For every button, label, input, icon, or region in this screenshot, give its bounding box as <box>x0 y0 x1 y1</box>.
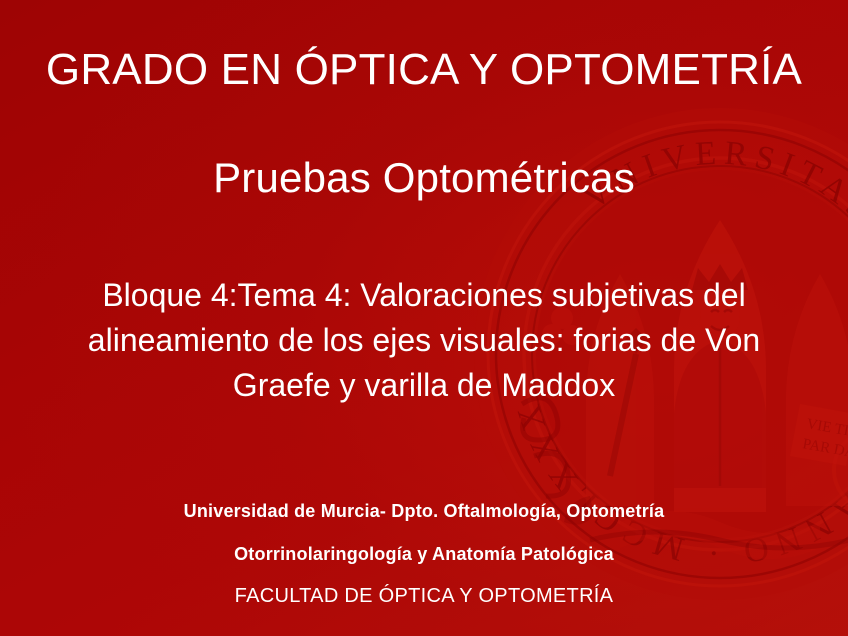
slide-text-layer: GRADO EN ÓPTICA Y OPTOMETRÍA Pruebas Opt… <box>0 0 848 636</box>
body-line-3: Graefe y varilla de Maddox <box>14 363 834 408</box>
body-line-2: alineamiento de los ejes visuales: foria… <box>14 318 834 363</box>
slide-footer: Universidad de Murcia- Dpto. Oftalmologí… <box>0 500 848 608</box>
slide-subtitle: Pruebas Optométricas <box>0 152 848 204</box>
presentation-slide: VNIVERSITAS · STVDIORVM ANNO · MCCLXXX <box>0 0 848 636</box>
body-line-1: Bloque 4:Tema 4: Valoraciones subjetivas… <box>14 273 834 318</box>
slide-title: GRADO EN ÓPTICA Y OPTOMETRÍA <box>0 43 848 97</box>
footer-faculty-line: FACULTAD DE ÓPTICA Y OPTOMETRÍA <box>0 584 848 608</box>
slide-body-text: Bloque 4:Tema 4: Valoraciones subjetivas… <box>14 273 834 408</box>
footer-department-line: Universidad de Murcia- Dpto. Oftalmologí… <box>0 500 848 522</box>
footer-department-line-2: Otorrinolaringología y Anatomía Patológi… <box>0 543 848 565</box>
